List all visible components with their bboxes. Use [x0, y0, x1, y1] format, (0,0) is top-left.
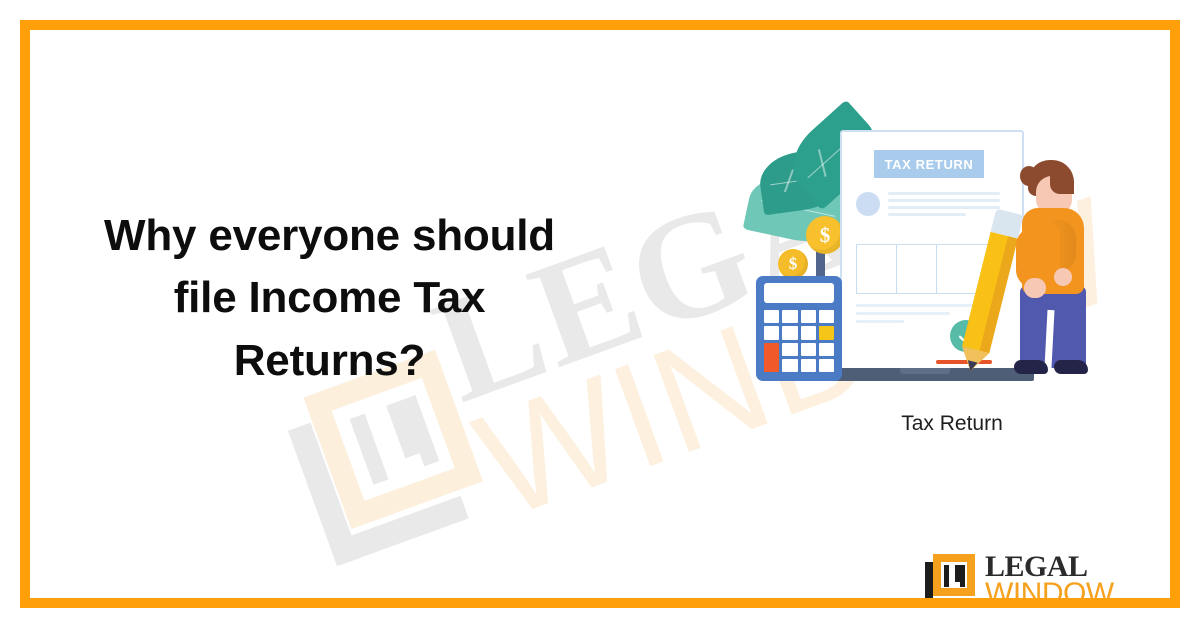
page-title-line-1: Why everyone should: [62, 205, 597, 267]
calculator-keys: [764, 310, 834, 372]
person-shoe: [1014, 360, 1048, 374]
document-avatar: [856, 192, 880, 216]
document-title-text: TAX RETURN: [885, 157, 974, 172]
document-title-band: TAX RETURN: [874, 150, 984, 178]
calculator-icon: [756, 276, 842, 381]
page-title-line-2: file Income Tax: [62, 267, 597, 329]
person-shoe: [1054, 360, 1088, 374]
person-hand: [1054, 268, 1072, 286]
brand-logo-mark-icon: [925, 554, 975, 604]
document-text-lines: [888, 192, 1000, 220]
poster-canvas: LEGAL WINDOW Why everyone should file In…: [0, 0, 1200, 630]
brand-window-text: WINDOW: [985, 579, 1114, 609]
person-illustration: [1002, 160, 1094, 386]
tax-return-illustration: $ $ TAX RETURN: [740, 110, 1120, 410]
coin-icon: $: [806, 216, 844, 254]
page-title: Why everyone should file Income Tax Retu…: [62, 205, 597, 392]
coin-icon: $: [778, 249, 808, 279]
page-title-line-3: Returns?: [62, 330, 597, 392]
brand-underline: [1130, 599, 1168, 607]
brand-logo[interactable]: LEGAL WINDOW: [925, 552, 1140, 610]
calculator-screen: [764, 283, 834, 303]
person-hand: [1024, 278, 1046, 298]
illustration-caption: Tax Return: [812, 412, 1092, 436]
laptop-notch: [900, 368, 950, 374]
